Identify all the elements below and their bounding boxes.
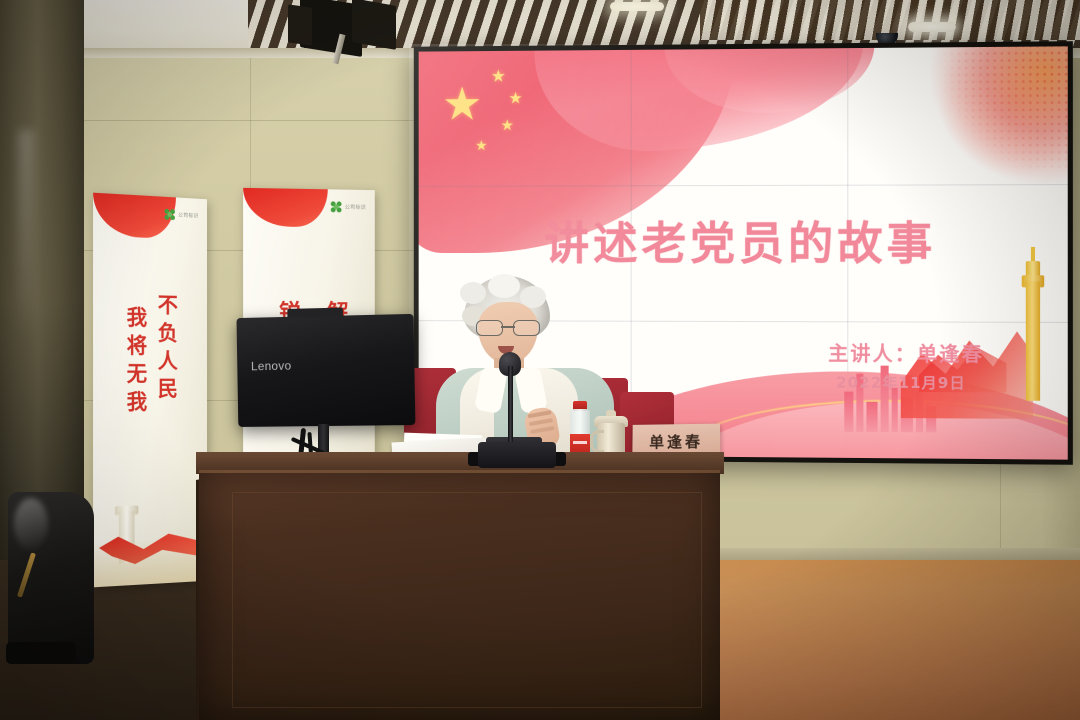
ceiling-light [908, 22, 956, 32]
ceiling-light [610, 2, 664, 11]
banner-char: 民 [158, 375, 178, 403]
name-plate-text: 单逢春 [649, 430, 703, 451]
star-icon: ★ [501, 118, 514, 133]
star-icon: ★ [442, 81, 482, 127]
hair-tuft [460, 282, 486, 304]
banner-logo: 公司标识 [165, 209, 199, 222]
banner-char: 负 [158, 319, 178, 347]
monument-column [1026, 281, 1040, 400]
star-icon: ★ [475, 138, 487, 152]
desk-inner-panel [232, 492, 702, 708]
banner-footer-graphic [93, 473, 207, 588]
banner-flag-graphic [243, 188, 328, 227]
star-icon: ★ [491, 68, 506, 85]
equipment-foot [6, 642, 76, 664]
desk-edge-highlight [199, 470, 720, 473]
lecture-hall-photo: ★ ★ ★ ★ ★ 讲述老党员的故事 [0, 0, 1080, 720]
hair-tuft [488, 274, 520, 298]
banner-logo-text: 公司标识 [178, 211, 198, 219]
banner-char: 将 [127, 332, 147, 361]
banner-logo: 公司标识 [331, 201, 366, 212]
banner-char: 无 [127, 360, 147, 388]
ceiling-speaker-rig [288, 4, 312, 45]
banner-flag-graphic [93, 193, 176, 239]
banner-char: 人 [158, 347, 178, 375]
banner-char: 我 [127, 303, 147, 332]
slide-date: 2022年11月9日 [836, 371, 966, 393]
equipment-highlight [14, 498, 48, 550]
sparkle-halftone-graphic [941, 46, 1067, 172]
cup-handle [590, 430, 604, 453]
clover-logo-icon [331, 201, 342, 212]
banner-logo-text: 公司标识 [345, 204, 366, 211]
monument-graphic [1013, 249, 1054, 401]
banner-gold-wash [93, 537, 207, 587]
ceiling-speaker-rig [352, 0, 396, 50]
slide-presenter-line: 主讲人：单逢春 [828, 337, 984, 367]
slide-title: 讲述老党员的故事 [419, 206, 1068, 272]
glasses-icon [476, 320, 540, 334]
star-icon: ★ [509, 91, 523, 107]
banner-slogan-right-column: 不 负 人 民 [158, 291, 178, 403]
banner-char: 不 [158, 291, 178, 319]
microphone-base [478, 442, 556, 468]
roll-up-banner-left: 公司标识 不 负 人 民 我 将 无 我 [93, 193, 207, 588]
banner-slogan-left-column: 我 将 无 我 [127, 303, 147, 416]
clover-logo-icon [165, 209, 176, 220]
webcam [287, 308, 343, 318]
dome-camera-icon [874, 28, 900, 44]
monitor-brand-label: Lenovo [251, 359, 292, 374]
banner-char: 我 [127, 388, 147, 416]
lenovo-monitor[interactable]: Lenovo [236, 314, 415, 427]
